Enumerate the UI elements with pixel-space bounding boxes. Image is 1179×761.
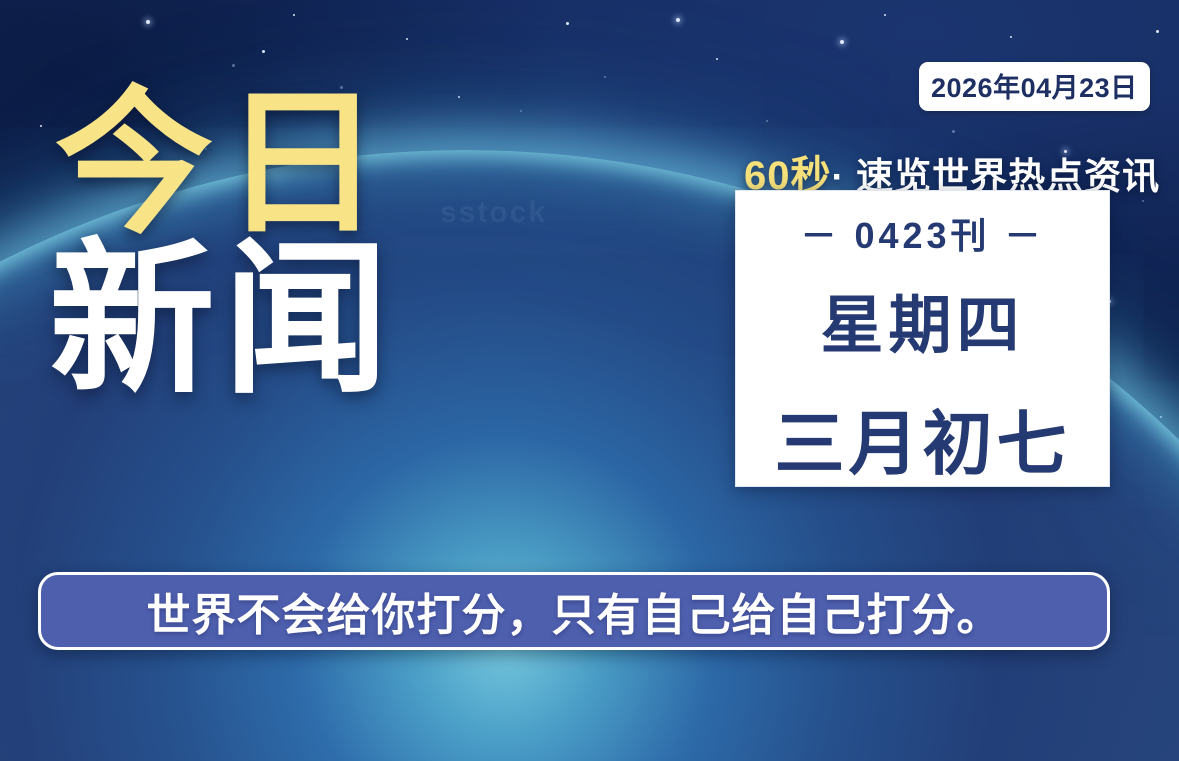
issue-info-card: － 0423刊 － 星期四 三月初七 [735, 190, 1110, 487]
weekday-label: 星期四 [821, 275, 1025, 366]
quote-banner: 世界不会给你打分，只有自己给自己打分。 [38, 572, 1110, 650]
issue-number: － 0423刊 － [800, 207, 1044, 259]
date-badge: 2026年04月23日 [919, 62, 1150, 111]
news-poster: sstock 今日 新闻 2026年04月23日 60秒· 速览世界热点资讯 －… [0, 0, 1179, 761]
page-title: 今日 新闻 [55, 92, 397, 398]
lunar-date: 三月初七 [775, 388, 1071, 489]
title-line-today: 今日 [55, 92, 397, 237]
title-line-news: 新闻 [49, 245, 397, 398]
quote-text: 世界不会给你打分，只有自己给自己打分。 [147, 579, 1002, 643]
photo-watermark: sstock [440, 196, 547, 230]
